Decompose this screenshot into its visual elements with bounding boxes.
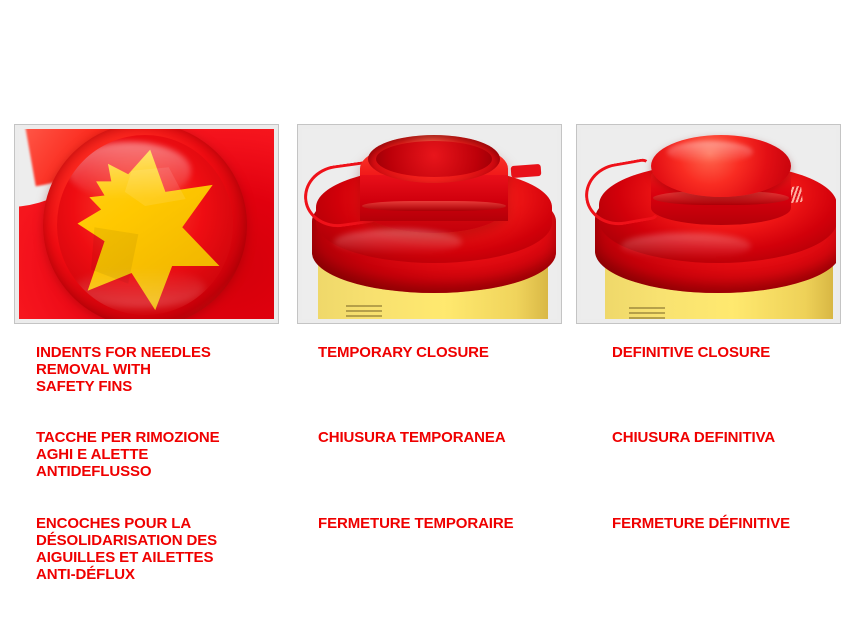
lid-locking-tab: [511, 164, 542, 178]
caption-en-definitive-closure: DEFINITIVE CLOSURE: [612, 344, 852, 361]
panel-image-indents: [19, 129, 274, 319]
lid-gloss-highlight: [334, 229, 462, 255]
caption-fr-definitive-closure: FERMETURE DÉFINITIVE: [612, 515, 852, 532]
container-label-text-block: [346, 305, 382, 319]
star-indent-icon: [64, 139, 233, 315]
container-label-text-block: [629, 307, 665, 319]
caption-fr-temporary-closure: FERMETURE TEMPORAIRE: [318, 515, 580, 532]
caption-it-indents: TACCHE PER RIMOZIONE AGHI E ALETTE ANTID…: [36, 429, 298, 480]
product-feature-sheet: INDENTS FOR NEEDLES REMOVAL WITH SAFETY …: [0, 0, 853, 640]
open-neck-thread: [362, 201, 506, 211]
open-neck-aperture: [376, 141, 492, 177]
image-panel-row: [0, 124, 853, 324]
caption-en-indents: INDENTS FOR NEEDLES REMOVAL WITH SAFETY …: [36, 344, 298, 395]
screw-cap-gloss-highlight: [667, 141, 753, 163]
caption-it-definitive-closure: CHIUSURA DEFINITIVA: [612, 429, 852, 446]
lid-gloss-highlight: [621, 233, 751, 259]
image-panel-indents-for-needles: [14, 124, 279, 324]
lid-opening-ring: [43, 129, 247, 319]
lid-opening-well: [57, 135, 233, 315]
panel-image-definitive-closure: [581, 129, 836, 319]
caption-fr-indents: ENCOCHES POUR LA DÉSOLIDARISATION DES AI…: [36, 515, 298, 583]
caption-en-temporary-closure: TEMPORARY CLOSURE: [318, 344, 580, 361]
image-panel-definitive-closure: [576, 124, 841, 324]
panel-image-temporary-closure: [302, 129, 557, 319]
image-panel-temporary-closure: [297, 124, 562, 324]
caption-it-temporary-closure: CHIUSURA TEMPORANEA: [318, 429, 580, 446]
